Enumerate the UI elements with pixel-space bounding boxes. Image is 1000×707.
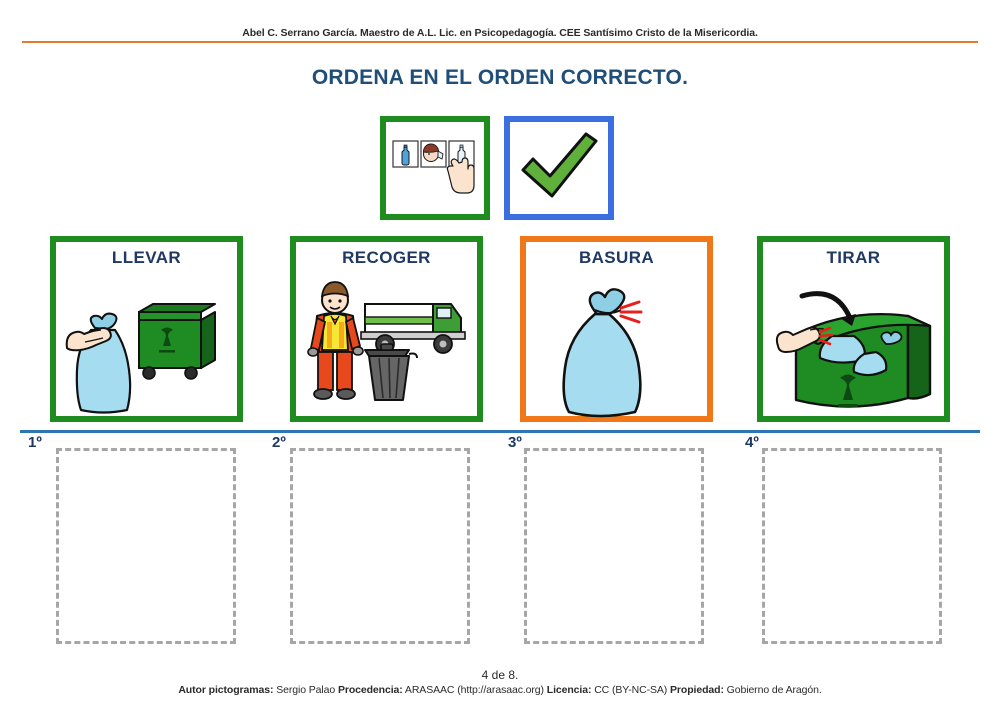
card-label-tirar: TIRAR — [763, 248, 944, 268]
answer-dropzone-1[interactable] — [56, 448, 236, 644]
sequence-bottle-drink-icon — [389, 125, 481, 211]
sequence-example-pictogram[interactable] — [380, 116, 490, 220]
page-number: 4 de 8. — [0, 668, 1000, 682]
instruction-pictogram-row — [380, 116, 614, 220]
answer-dropzone-3[interactable] — [524, 448, 704, 644]
word-card-recoger[interactable]: RECOGER — [290, 236, 483, 422]
header-divider-rule — [22, 41, 978, 43]
ordinal-label-1: 1º — [28, 434, 42, 451]
page-title: ORDENA EN EL ORDEN CORRECTO. — [0, 66, 1000, 90]
answer-dropzone-2[interactable] — [290, 448, 470, 644]
check-mark-icon — [517, 128, 601, 208]
answer-dropzone-4[interactable] — [762, 448, 942, 644]
throwing-bag-into-bin-icon — [763, 268, 944, 420]
word-card-llevar[interactable]: LLEVAR — [50, 236, 243, 422]
answer-row-divider-rule — [20, 430, 980, 433]
garbage-collector-truck-icon — [296, 268, 477, 420]
hand-carrying-trash-bag-icon — [56, 268, 237, 420]
trash-bag-icon — [526, 268, 707, 420]
header-credit-line: Abel C. Serrano García. Maestro de A.L. … — [0, 27, 1000, 39]
footer-credit-line: Autor pictogramas: Sergio Palao Proceden… — [0, 684, 1000, 696]
ordinal-label-4: 4º — [745, 434, 759, 451]
word-card-basura[interactable]: BASURA — [520, 236, 713, 422]
word-card-row: LLEVAR RECOGER — [0, 236, 1000, 422]
card-label-llevar: LLEVAR — [56, 248, 237, 268]
check-mark-pictogram[interactable] — [504, 116, 614, 220]
card-label-basura: BASURA — [526, 248, 707, 268]
ordinal-label-2: 2º — [272, 434, 286, 451]
word-card-tirar[interactable]: TIRAR — [757, 236, 950, 422]
card-label-recoger: RECOGER — [296, 248, 477, 268]
ordinal-label-3: 3º — [508, 434, 522, 451]
